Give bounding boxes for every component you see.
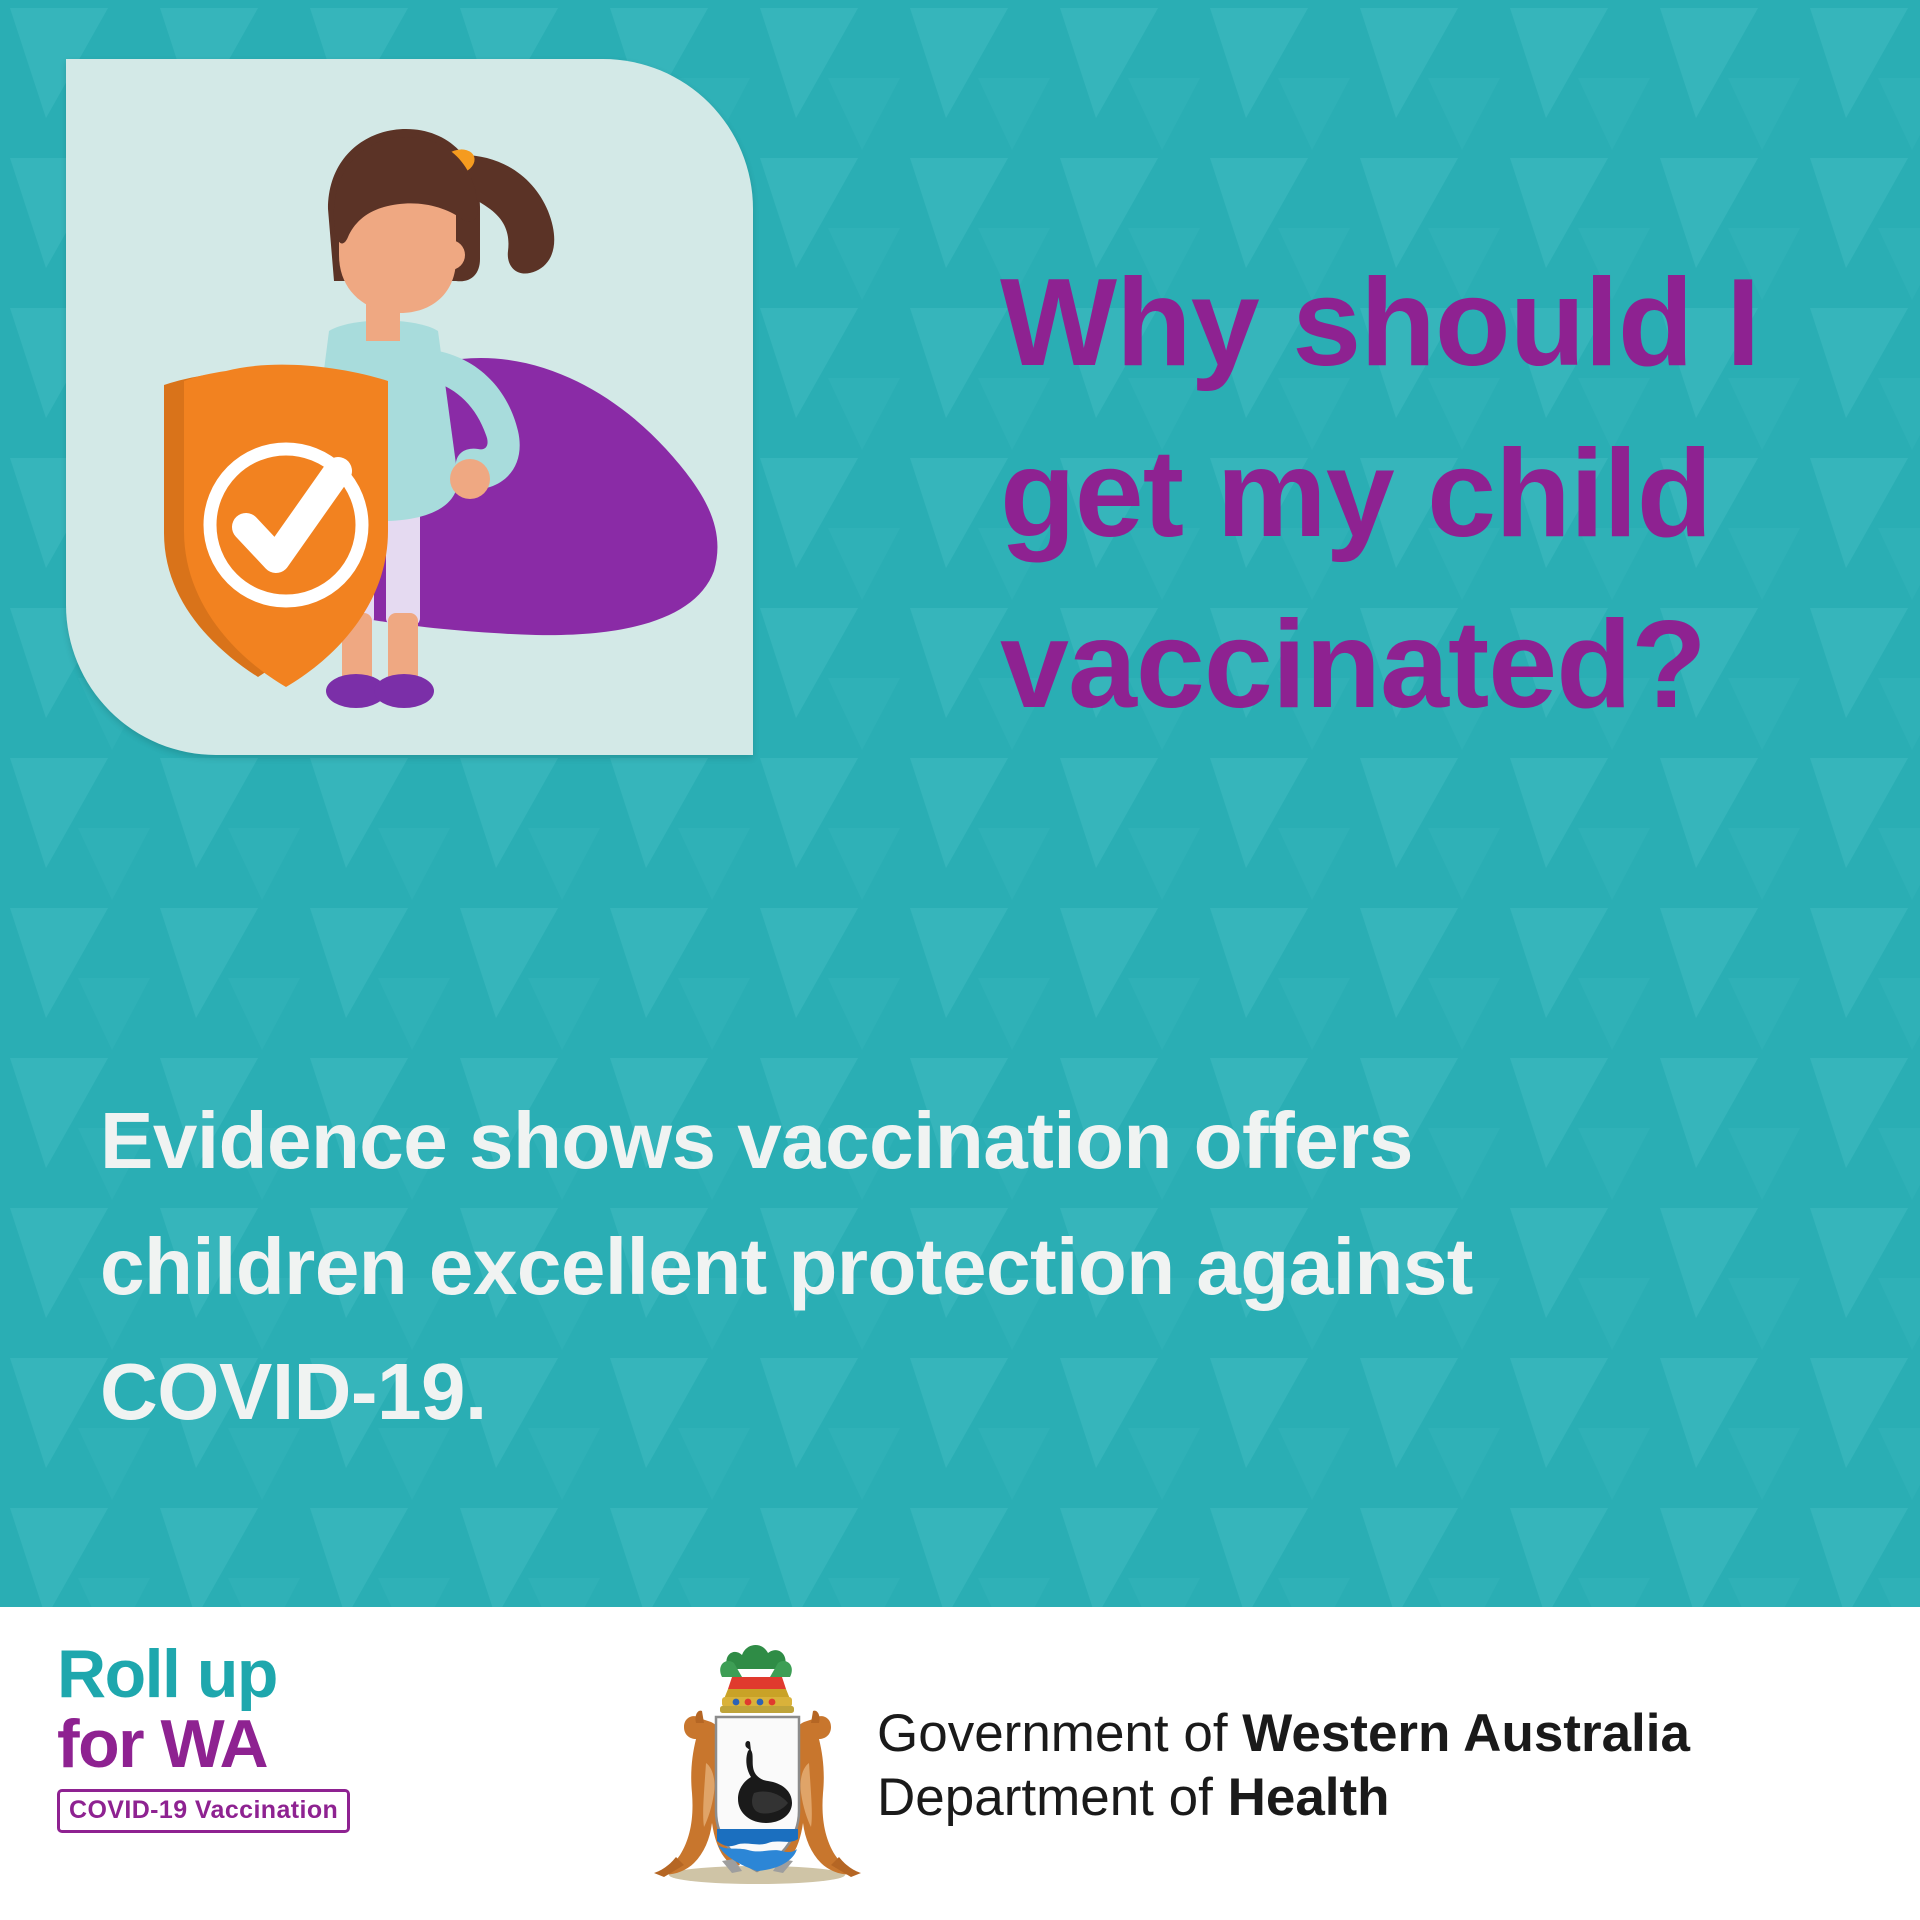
wa-coat-of-arms-icon: [650, 1633, 865, 1895]
rollup-logo-line-2: for WA: [57, 1710, 377, 1779]
shoe-right: [374, 674, 434, 708]
headline-line-2: get my child: [1000, 409, 1880, 580]
superhero-child-illustration: [66, 59, 753, 755]
gov-line1-regular: Government of: [877, 1704, 1242, 1763]
gov-line2-bold: Health: [1228, 1768, 1390, 1827]
body-line-2: children excellent protection against: [100, 1204, 1860, 1330]
body-line-3: COVID-19.: [100, 1329, 1860, 1455]
government-lockup: Government of Western Australia Departme…: [877, 1702, 1690, 1830]
page-title: Why should I get my child vaccinated?: [1000, 238, 1880, 751]
body-line-1: Evidence shows vaccination offers: [100, 1078, 1860, 1204]
rollup-for-wa-logo: Roll up for WA COVID-19 Vaccination: [57, 1641, 377, 1833]
headline-line-3: vaccinated?: [1000, 580, 1880, 751]
government-line-1: Government of Western Australia: [877, 1702, 1690, 1766]
gov-line2-regular: Department of: [877, 1768, 1228, 1827]
covid-vaccination-badge: COVID-19 Vaccination: [57, 1789, 350, 1833]
hero-band: Why should I get my child vaccinated? Ev…: [0, 0, 1920, 1607]
legging-right: [386, 504, 420, 626]
illustration-card: [66, 59, 753, 755]
footer-band: Roll up for WA COVID-19 Vaccination: [0, 1607, 1920, 1920]
ear: [435, 240, 465, 270]
government-line-2: Department of Health: [877, 1766, 1690, 1830]
coa-crest: [720, 1645, 794, 1713]
poster-root: Why should I get my child vaccinated? Ev…: [0, 0, 1920, 1920]
gov-line1-bold: Western Australia: [1242, 1704, 1690, 1763]
body-copy: Evidence shows vaccination offers childr…: [100, 1078, 1860, 1455]
rollup-logo-line-1: Roll up: [57, 1641, 377, 1708]
headline-line-1: Why should I: [1000, 238, 1880, 409]
hand-right: [450, 459, 490, 499]
